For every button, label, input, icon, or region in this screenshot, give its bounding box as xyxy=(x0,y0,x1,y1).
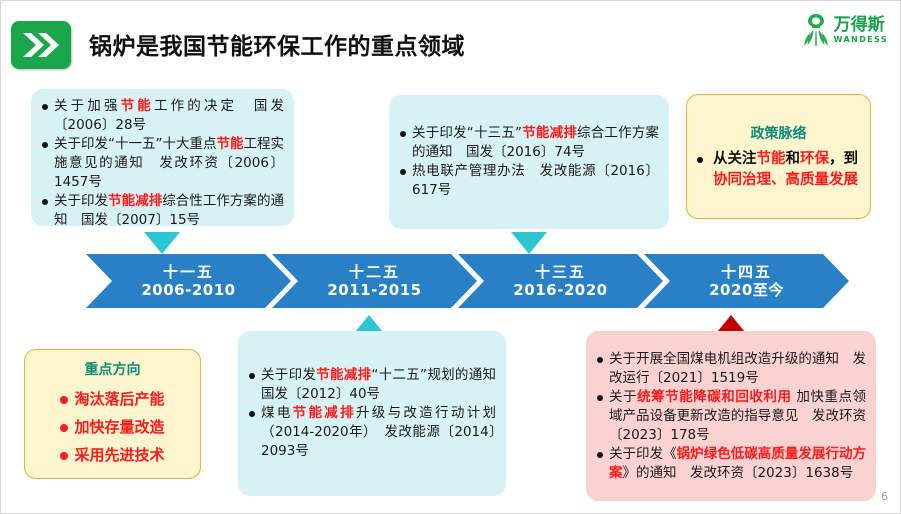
slide-canvas: 锅炉是我国节能环保工作的重点领域 万得斯 WANDESS 关于加强节能工作的决定… xyxy=(0,0,901,514)
card-key-directions: 重点方向 淘汰落后产能加快存量改造采用先进技术 xyxy=(24,349,201,479)
timeline-chevron-145[interactable]: 十四五 2020至今 xyxy=(644,254,849,308)
policy-item: 关于开展全国煤电机组改造升级的通知 发改运行〔2021〕1519号 xyxy=(596,350,866,388)
timeline-chevron-115[interactable]: 十一五 2006-2010 xyxy=(86,254,291,308)
double-chevron-right-icon xyxy=(11,21,71,69)
card-13th-five-year-plan: 关于印发“十三五”节能减排综合工作方案的通知 国发〔2016〕74号热电联产管理… xyxy=(389,95,669,229)
page-title: 锅炉是我国节能环保工作的重点领域 xyxy=(89,27,465,61)
key-direction-item: 加快存量改造 xyxy=(35,413,190,441)
card-14th-five-year-plan: 关于开展全国煤电机组改造升级的通知 发改运行〔2021〕1519号关于统筹节能降… xyxy=(586,331,876,501)
policy-item: 关于印发节能减排综合性工作方案的通知 国发〔2007〕15号 xyxy=(41,192,284,230)
chevron-label-years: 2011-2015 xyxy=(327,281,421,299)
chevron-label-years: 2016-2020 xyxy=(513,281,607,299)
chevron-label-cn: 十一五 xyxy=(163,263,214,281)
key-directions-title: 重点方向 xyxy=(35,359,190,379)
logo-name-en: WANDESS xyxy=(834,36,888,44)
bullet-dot-icon xyxy=(60,396,68,404)
card-11th-five-year-plan: 关于加强节能工作的决定 国发〔2006〕28号关于印发“十一五”十大重点节能工程… xyxy=(31,89,294,226)
policy-item: 关于印发节能减排“十二五”规划的通知 国发〔2012〕40号 xyxy=(248,366,496,404)
page-number: 6 xyxy=(881,490,888,503)
chevron-label-years: 2006-2010 xyxy=(141,281,235,299)
chevron-label-cn: 十四五 xyxy=(721,263,772,281)
key-directions-list: 淘汰落后产能加快存量改造采用先进技术 xyxy=(35,385,190,469)
connector-down-115 xyxy=(144,232,180,254)
key-direction-item: 淘汰落后产能 xyxy=(35,385,190,413)
bullet-dot-icon xyxy=(60,452,68,460)
policy-context-line2: 协同治理、高质量发展 xyxy=(697,170,860,191)
policy-item: 关于统筹节能降碳和回收利用 加快重点领域产品设备更新改造的指导意见 发改环资〔2… xyxy=(596,388,866,445)
card-policy-context: 政策脉络 从关注节能和环保，到 协同治理、高质量发展 xyxy=(686,94,871,219)
policy-item: 热电联产管理办法 发改能源〔2016〕617号 xyxy=(399,162,659,200)
policy-item: 关于印发“十一五”十大重点节能工程实施意见的通知 发改环资〔2006〕1457号 xyxy=(41,135,284,192)
leaf-logo-icon xyxy=(802,13,830,47)
policy-list-135: 关于印发“十三五”节能减排综合工作方案的通知 国发〔2016〕74号热电联产管理… xyxy=(399,124,659,200)
policy-item: 煤电节能减排升级与改造行动计划（2014-2020年） 发改能源〔2014〕20… xyxy=(248,404,496,461)
bullet-dot-icon xyxy=(60,424,68,432)
policy-list-145: 关于开展全国煤电机组改造升级的通知 发改运行〔2021〕1519号关于统筹节能降… xyxy=(596,350,866,483)
policy-item: 关于印发《锅炉绿色低碳高质量发展行动方案》的通知 发改环资〔2023〕1638号 xyxy=(596,445,866,483)
policy-list-125: 关于印发节能减排“十二五”规划的通知 国发〔2012〕40号煤电节能减排升级与改… xyxy=(248,366,496,461)
policy-context-line1: 从关注节能和环保，到 xyxy=(697,149,860,170)
chevron-label-years: 2020至今 xyxy=(709,281,784,299)
policy-item: 关于加强节能工作的决定 国发〔2006〕28号 xyxy=(41,97,284,135)
logo-name-cn: 万得斯 xyxy=(834,17,888,34)
brand-logo: 万得斯 WANDESS xyxy=(802,13,888,47)
card-12th-five-year-plan: 关于印发节能减排“十二五”规划的通知 国发〔2012〕40号煤电节能减排升级与改… xyxy=(238,331,506,496)
connector-down-135 xyxy=(511,232,547,254)
policy-list-115: 关于加强节能工作的决定 国发〔2006〕28号关于印发“十一五”十大重点节能工程… xyxy=(41,97,284,230)
chevron-label-cn: 十三五 xyxy=(535,263,586,281)
policy-item: 关于印发“十三五”节能减排综合工作方案的通知 国发〔2016〕74号 xyxy=(399,124,659,162)
timeline-chevron-125[interactable]: 十二五 2011-2015 xyxy=(272,254,477,308)
policy-context-title: 政策脉络 xyxy=(697,123,860,143)
timeline-chevron-135[interactable]: 十三五 2016-2020 xyxy=(458,254,663,308)
key-direction-item: 采用先进技术 xyxy=(35,441,190,469)
chevron-label-cn: 十二五 xyxy=(349,263,400,281)
